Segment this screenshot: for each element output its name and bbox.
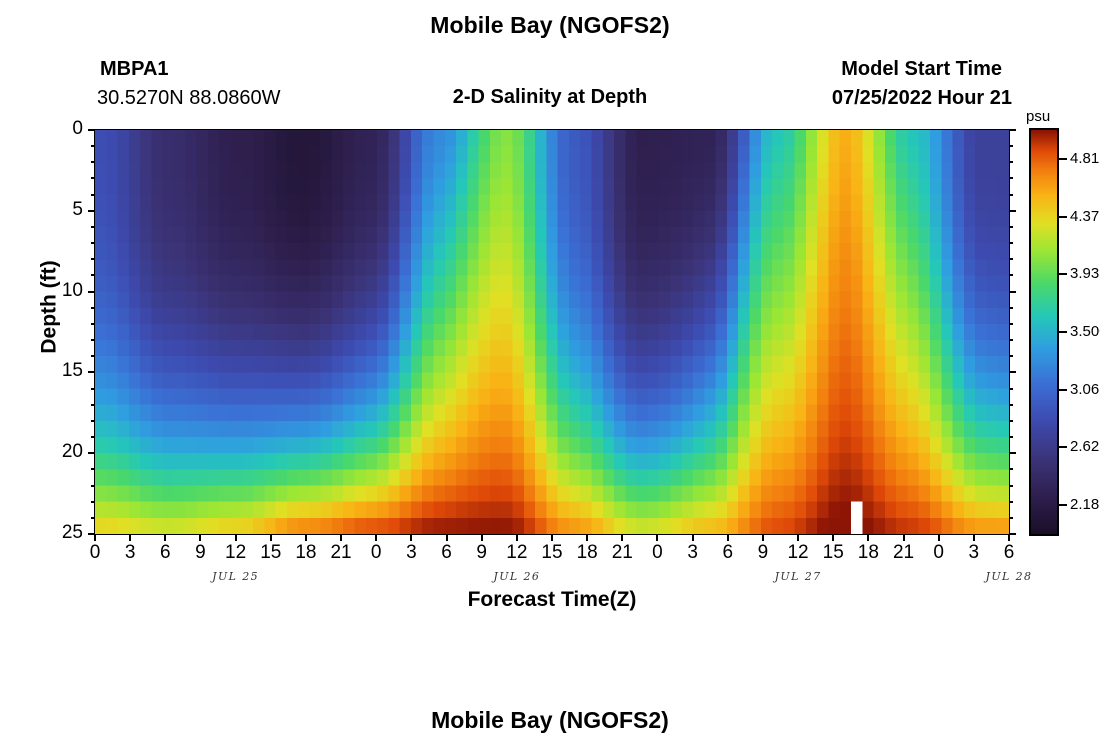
y-axis-minor-tick-right: [1009, 194, 1013, 196]
x-axis-day-label: JUL 28: [964, 570, 1054, 583]
y-axis-minor-tick: [91, 355, 95, 357]
y-axis-minor-tick-right: [1009, 145, 1013, 147]
x-axis-tick: [446, 534, 448, 541]
y-axis-minor-tick-right: [1009, 501, 1013, 503]
x-axis-tick-label: 9: [743, 542, 783, 564]
x-axis-day-label: JUL 26: [472, 570, 562, 583]
y-axis-minor-tick-right: [1009, 258, 1013, 260]
x-axis-day-label: JUL 25: [191, 570, 281, 583]
x-axis-tick: [762, 534, 764, 541]
y-axis-minor-tick: [91, 436, 95, 438]
x-axis-tick: [586, 534, 588, 541]
y-axis-minor-tick-right: [1009, 436, 1013, 438]
y-axis-minor-tick: [91, 145, 95, 147]
y-axis-minor-tick-right: [1009, 307, 1013, 309]
colorbar-tick: [1057, 504, 1067, 506]
x-axis-tick-label: 0: [919, 542, 959, 564]
colorbar: 4.8124.3753.9383.5003.0622.6252.188: [1031, 130, 1057, 534]
x-axis-tick: [938, 534, 940, 541]
x-axis-tick-label: 15: [532, 542, 572, 564]
x-axis-tick: [621, 534, 623, 541]
x-axis-tick-label: 21: [321, 542, 361, 564]
chart-canvas: Mobile Bay (NGOFS2) MBPA1 30.5270N 88.08…: [0, 0, 1100, 750]
y-axis-tick-right: [1009, 291, 1016, 293]
x-axis-tick-label: 9: [180, 542, 220, 564]
x-axis-tick-label: 6: [145, 542, 185, 564]
page-title: Mobile Bay (NGOFS2): [0, 12, 1100, 39]
x-axis-tick: [692, 534, 694, 541]
colorbar-unit-label: psu: [1026, 108, 1050, 125]
colorbar-tick: [1057, 446, 1067, 448]
y-axis-minor-tick: [91, 404, 95, 406]
y-axis-minor-tick: [91, 307, 95, 309]
x-axis-tick-label: 0: [356, 542, 396, 564]
x-axis-tick: [516, 534, 518, 541]
salinity-heatmap: [95, 130, 1009, 534]
y-axis-minor-tick: [91, 388, 95, 390]
chart-subtitle: 2-D Salinity at Depth: [330, 86, 770, 109]
y-axis-tick-label: 20: [37, 441, 83, 463]
y-axis-minor-tick-right: [1009, 517, 1013, 519]
colorbar-tick-label: 2.625: [1070, 438, 1100, 455]
x-axis-tick-label: 15: [813, 542, 853, 564]
x-axis-tick-label: 6: [989, 542, 1029, 564]
x-axis-tick-label: 18: [848, 542, 888, 564]
y-axis-minor-tick: [91, 177, 95, 179]
y-axis-minor-tick: [91, 161, 95, 163]
x-axis-tick: [375, 534, 377, 541]
y-axis-minor-tick-right: [1009, 274, 1013, 276]
colorbar-tick-label: 3.062: [1070, 381, 1100, 398]
station-coordinates: 30.5270N 88.0860W: [97, 87, 280, 110]
y-axis-minor-tick-right: [1009, 242, 1013, 244]
heatmap-plot-area: 036912151821036912151821036912151821036 …: [95, 130, 1009, 534]
y-axis-tick-right: [1009, 533, 1016, 535]
y-axis-minor-tick: [91, 468, 95, 470]
x-axis-tick: [410, 534, 412, 541]
y-axis-tick-right: [1009, 129, 1016, 131]
colorbar-tick-label: 4.812: [1070, 150, 1100, 167]
x-axis-tick: [270, 534, 272, 541]
x-axis-tick: [129, 534, 131, 541]
x-axis-tick-label: 21: [884, 542, 924, 564]
x-axis-tick: [1008, 534, 1010, 541]
y-axis-tick-label: 0: [37, 118, 83, 140]
colorbar-tick: [1057, 216, 1067, 218]
x-axis-tick-label: 3: [954, 542, 994, 564]
x-axis-tick-label: 21: [602, 542, 642, 564]
colorbar-tick: [1057, 158, 1067, 160]
y-axis-tick: [88, 129, 95, 131]
y-axis-minor-tick: [91, 501, 95, 503]
x-axis-tick: [727, 534, 729, 541]
model-start-time-label: Model Start Time: [841, 58, 1002, 81]
x-axis-tick: [94, 534, 96, 541]
y-axis-minor-tick-right: [1009, 355, 1013, 357]
y-axis-tick: [88, 533, 95, 535]
y-axis-minor-tick-right: [1009, 388, 1013, 390]
x-axis-tick: [867, 534, 869, 541]
x-axis-tick-label: 18: [286, 542, 326, 564]
y-axis-title: Depth (ft): [38, 260, 62, 353]
x-axis-tick: [199, 534, 201, 541]
y-axis-minor-tick: [91, 274, 95, 276]
y-axis-minor-tick: [91, 420, 95, 422]
x-axis-tick-label: 0: [637, 542, 677, 564]
y-axis-tick-right: [1009, 210, 1016, 212]
x-axis-tick: [235, 534, 237, 541]
y-axis-minor-tick-right: [1009, 468, 1013, 470]
station-id: MBPA1: [100, 58, 169, 81]
x-axis-tick: [305, 534, 307, 541]
x-axis-tick-label: 6: [427, 542, 467, 564]
colorbar-tick: [1057, 331, 1067, 333]
y-axis-minor-tick: [91, 226, 95, 228]
x-axis-tick-label: 3: [110, 542, 150, 564]
y-axis-tick-right: [1009, 371, 1016, 373]
y-axis-minor-tick: [91, 258, 95, 260]
y-axis-tick-label: 15: [37, 360, 83, 382]
x-axis-tick-label: 3: [391, 542, 431, 564]
x-axis-tick: [797, 534, 799, 541]
x-axis-tick: [481, 534, 483, 541]
y-axis-minor-tick: [91, 194, 95, 196]
x-axis-tick: [903, 534, 905, 541]
y-axis-minor-tick-right: [1009, 161, 1013, 163]
x-axis-tick-label: 18: [567, 542, 607, 564]
y-axis-tick-right: [1009, 452, 1016, 454]
colorbar-tick: [1057, 389, 1067, 391]
x-axis-tick: [832, 534, 834, 541]
y-axis-minor-tick-right: [1009, 226, 1013, 228]
y-axis-tick: [88, 371, 95, 373]
x-axis-tick: [340, 534, 342, 541]
y-axis-tick-label: 25: [37, 522, 83, 544]
y-axis-minor-tick-right: [1009, 339, 1013, 341]
x-axis-tick-label: 12: [216, 542, 256, 564]
x-axis-tick-label: 15: [251, 542, 291, 564]
colorbar-tick-label: 2.188: [1070, 496, 1100, 513]
y-axis-tick-label: 5: [37, 199, 83, 221]
colorbar-tick: [1057, 273, 1067, 275]
y-axis-tick: [88, 210, 95, 212]
x-axis-day-label: JUL 27: [753, 570, 843, 583]
y-axis-minor-tick: [91, 242, 95, 244]
x-axis-tick-label: 6: [708, 542, 748, 564]
y-axis-minor-tick: [91, 517, 95, 519]
colorbar-tick-label: 3.500: [1070, 323, 1100, 340]
x-axis-tick-label: 9: [462, 542, 502, 564]
x-axis-tick: [164, 534, 166, 541]
y-axis-minor-tick-right: [1009, 420, 1013, 422]
y-axis-minor-tick-right: [1009, 177, 1013, 179]
colorbar-tick-label: 3.938: [1070, 265, 1100, 282]
x-axis-tick-label: 12: [778, 542, 818, 564]
colorbar-tick-label: 4.375: [1070, 208, 1100, 225]
y-axis-minor-tick-right: [1009, 404, 1013, 406]
y-axis-tick: [88, 452, 95, 454]
footer-title: Mobile Bay (NGOFS2): [0, 707, 1100, 734]
colorbar-gradient: [1031, 130, 1057, 534]
y-axis-minor-tick: [91, 339, 95, 341]
x-axis-tick-label: 12: [497, 542, 537, 564]
x-axis-tick: [973, 534, 975, 541]
y-axis-minor-tick-right: [1009, 323, 1013, 325]
x-axis-title: Forecast Time(Z): [95, 588, 1009, 612]
x-axis-tick-label: 3: [673, 542, 713, 564]
y-axis-minor-tick-right: [1009, 485, 1013, 487]
y-axis-minor-tick: [91, 323, 95, 325]
x-axis-tick: [656, 534, 658, 541]
x-axis-tick-label: 0: [75, 542, 115, 564]
y-axis-tick: [88, 291, 95, 293]
y-axis-minor-tick: [91, 485, 95, 487]
x-axis-tick: [551, 534, 553, 541]
model-start-time-value: 07/25/2022 Hour 21: [832, 87, 1012, 110]
